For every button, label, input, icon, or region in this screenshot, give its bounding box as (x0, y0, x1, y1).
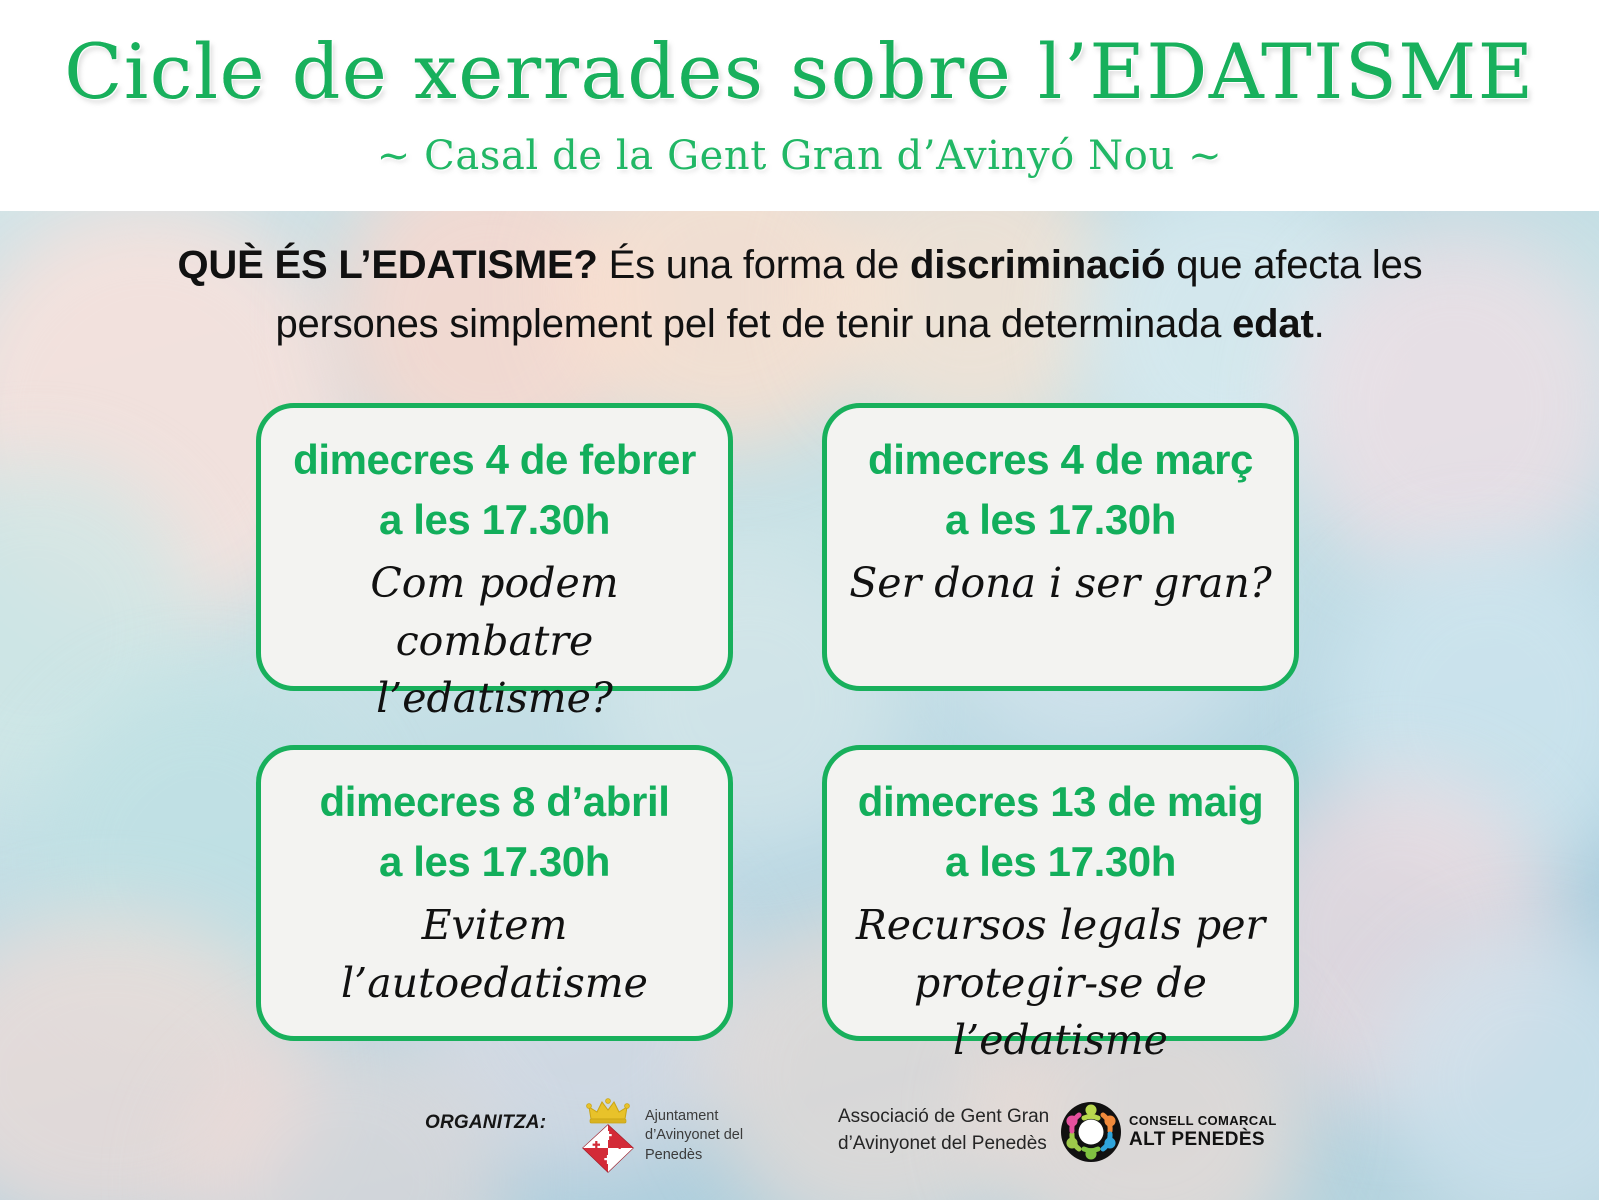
session-date: dimecres 8 d’abril a les 17.30h (320, 772, 670, 891)
background-bokeh (0, 211, 1599, 1200)
intro-part3: . (1314, 302, 1325, 346)
session-date: dimecres 4 de febrer a les 17.30h (293, 430, 696, 549)
header-band: Cicle de xerrades sobre l’EDATISME ~ Cas… (0, 0, 1599, 211)
intro-lead: QUÈ ÉS L’EDATISME? (178, 243, 598, 287)
logo-ajuntament: Ajuntament d’Avinyonet del Penedès (580, 1086, 785, 1186)
organitza-label: ORGANITZA: (425, 1112, 546, 1134)
session-card: dimecres 4 de març a les 17.30h Ser dona… (822, 403, 1299, 691)
intro-bold2: edat (1232, 302, 1313, 346)
consell-line1: CONSELL COMARCAL (1129, 1114, 1277, 1129)
intro-bold1: discriminació (910, 243, 1165, 287)
people-circle-icon (1060, 1101, 1122, 1163)
session-topic: Ser dona i ser gran? (849, 555, 1272, 612)
session-date: dimecres 13 de maig a les 17.30h (858, 772, 1264, 891)
session-card: dimecres 8 d’abril a les 17.30h Evitem l… (256, 745, 733, 1041)
associacio-name: Associació de Gent Gran d’Avinyonet del … (838, 1104, 1088, 1158)
session-topic: Com podem combatre l’edatisme? (279, 555, 710, 727)
footer-sponsors (0, 1078, 1599, 1200)
poster-root: Cicle de xerrades sobre l’EDATISME ~ Cas… (0, 0, 1599, 1200)
logo-consell-comarcal: CONSELL COMARCAL ALT PENEDÈS (1060, 1092, 1280, 1172)
intro-paragraph: QUÈ ÉS L’EDATISME? És una forma de discr… (130, 236, 1470, 354)
session-card: dimecres 13 de maig a les 17.30h Recurso… (822, 745, 1299, 1041)
session-date: dimecres 4 de març a les 17.30h (868, 430, 1253, 549)
page-title: Cicle de xerrades sobre l’EDATISME (0, 27, 1599, 116)
session-topic: Evitem l’autoedatisme (341, 897, 648, 1012)
session-card: dimecres 4 de febrer a les 17.30h Com po… (256, 403, 733, 691)
consell-line2: ALT PENEDÈS (1129, 1129, 1277, 1150)
ajuntament-name: Ajuntament d’Avinyonet del Penedès (645, 1107, 785, 1166)
crown-shield-icon (580, 1098, 636, 1174)
session-topic: Recursos legals per protegir-se de l’eda… (856, 897, 1265, 1069)
page-subtitle: ~ Casal de la Gent Gran d’Avinyó Nou ~ (0, 133, 1599, 179)
intro-part1: És una forma de (598, 243, 910, 287)
consell-text: CONSELL COMARCAL ALT PENEDÈS (1129, 1114, 1277, 1150)
